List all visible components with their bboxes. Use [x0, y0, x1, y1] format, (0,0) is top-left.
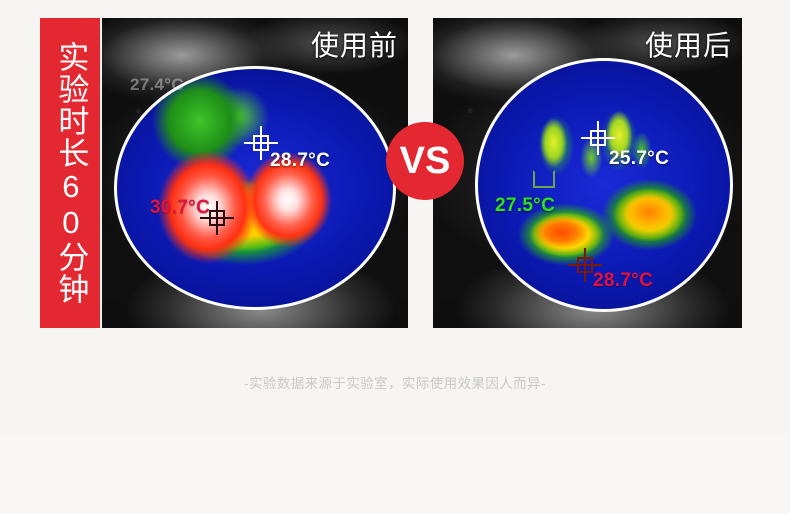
panel-label-before: 使用前	[311, 32, 398, 60]
temperature-reading-after-2: 27.5°C	[495, 196, 555, 215]
vs-badge: VS	[386, 122, 464, 200]
thermal-field-before	[114, 66, 396, 310]
bracket-marker-after-2	[533, 170, 555, 188]
temperature-reading-before-1: 27.4°C	[130, 76, 184, 93]
experiment-duration-text: 实验时长60分钟	[54, 41, 87, 305]
panel-label-after: 使用后	[645, 32, 732, 60]
temperature-reading-before-3: 30.7°C	[150, 198, 210, 217]
lower-background-fill	[0, 437, 790, 514]
temperature-reading-after-1: 25.7°C	[609, 149, 669, 168]
temperature-reading-before-2: 28.7°C	[270, 151, 330, 170]
experiment-duration-banner: 实验时长60分钟	[40, 18, 100, 328]
vs-badge-label: VS	[400, 140, 451, 183]
comparison-stage: 实验时长60分钟 27.4°C 28.7°C 30.7°C 使用前 25.7°C…	[0, 0, 790, 514]
thermal-panel-before: 27.4°C 28.7°C 30.7°C 使用前	[102, 18, 408, 328]
thermal-panel-after: 25.7°C 27.5°C 28.7°C 使用后	[433, 18, 742, 328]
disclaimer-caption: -实验数据来源于实验室，实际使用效果因人而异-	[0, 372, 790, 392]
temperature-reading-after-3: 28.7°C	[593, 271, 653, 290]
